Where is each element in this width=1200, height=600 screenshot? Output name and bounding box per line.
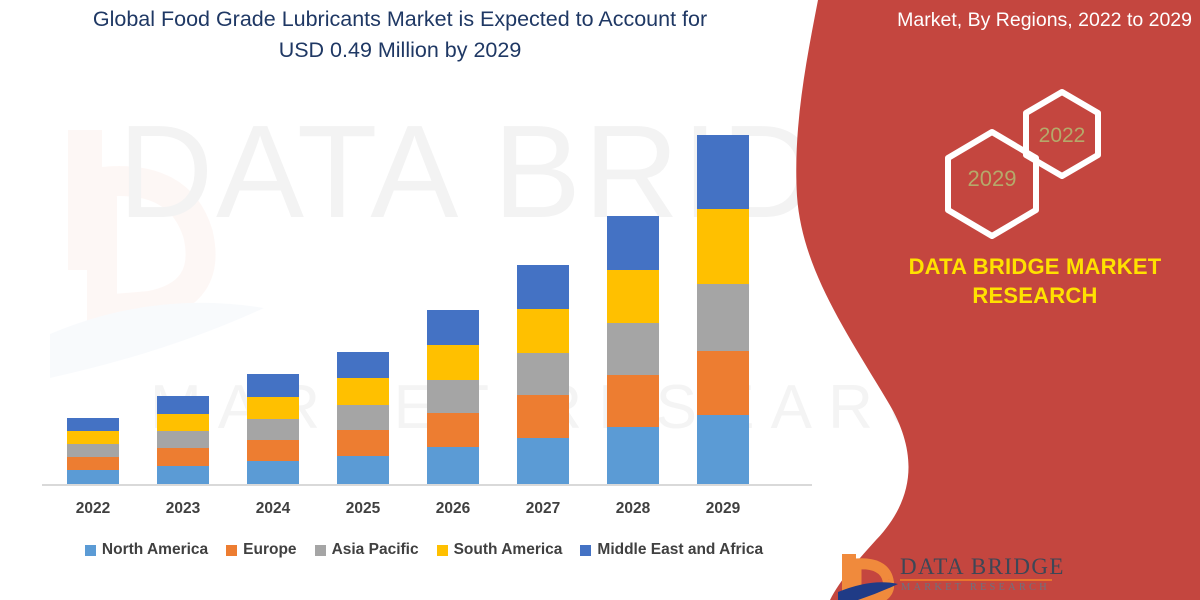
infographic-canvas: DATA BRIDGE MARKET RESEARCH 202220232024… — [0, 0, 1200, 600]
panel-title: Market, By Regions, 2022 to 2029 — [862, 6, 1192, 35]
dbmr-logo: DATA BRIDGE MARKET RESEARCH — [838, 552, 1138, 600]
brand-name: DATA BRIDGE MARKET RESEARCH — [880, 252, 1190, 310]
logo-primary-text: DATA BRIDGE — [900, 554, 1065, 580]
hexagon-2022-label: 2022 — [1022, 124, 1102, 148]
logo-mark-icon — [838, 552, 898, 600]
hexagon-2029-label: 2029 — [948, 166, 1036, 192]
logo-secondary-text: MARKET RESEARCH — [901, 582, 1050, 593]
